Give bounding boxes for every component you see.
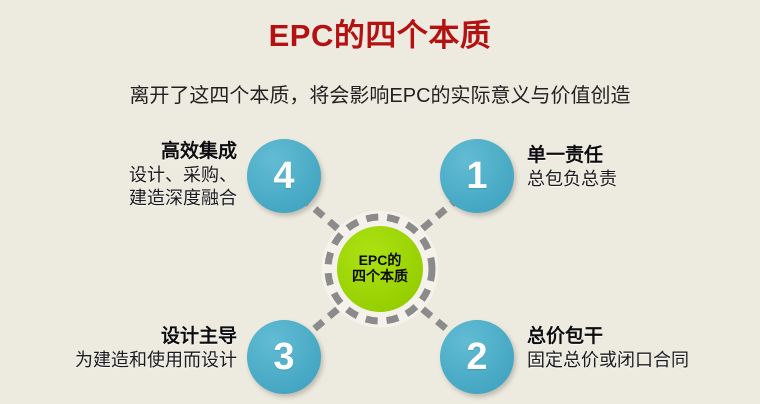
node-circle-3[interactable]: 3 bbox=[247, 320, 321, 394]
node-heading-1: 单一责任 bbox=[527, 144, 752, 168]
node-detail-4-line1: 设计、采购、 bbox=[27, 164, 237, 187]
center-hub-line2: 四个本质 bbox=[352, 269, 408, 285]
node-label-3: 设计主导 为建造和使用而设计 bbox=[0, 325, 237, 372]
node-number-2: 2 bbox=[466, 338, 487, 376]
node-heading-2: 总价包干 bbox=[527, 325, 752, 349]
slide-canvas: EPC的四个本质 离开了这四个本质，将会影响EPC的实际意义与价值创造 EPC的… bbox=[0, 0, 760, 404]
node-detail-4-line2: 建造深度融合 bbox=[27, 187, 237, 210]
node-detail-3: 为建造和使用而设计 bbox=[0, 349, 237, 372]
node-label-2: 总价包干 固定总价或闭口合同 bbox=[527, 325, 752, 372]
epc-hub-spoke-diagram: EPC的 四个本质 4 1 3 2 高效集成 设计、采购、 建造深度融合 设计主… bbox=[0, 0, 760, 404]
node-number-3: 3 bbox=[273, 338, 294, 376]
node-heading-4: 高效集成 bbox=[27, 140, 237, 164]
node-number-1: 1 bbox=[466, 157, 487, 195]
node-circle-2[interactable]: 2 bbox=[440, 320, 514, 394]
node-circle-4[interactable]: 4 bbox=[247, 139, 321, 213]
node-number-4: 4 bbox=[273, 157, 294, 195]
node-circle-1[interactable]: 1 bbox=[440, 139, 514, 213]
node-label-1: 单一责任 总包负总责 bbox=[527, 144, 752, 191]
node-heading-3: 设计主导 bbox=[0, 325, 237, 349]
node-label-4: 高效集成 设计、采购、 建造深度融合 bbox=[27, 140, 237, 211]
center-hub[interactable]: EPC的 四个本质 bbox=[337, 226, 423, 312]
node-detail-1: 总包负总责 bbox=[527, 168, 752, 191]
center-hub-line1: EPC的 bbox=[359, 253, 402, 269]
node-detail-2: 固定总价或闭口合同 bbox=[527, 349, 752, 372]
